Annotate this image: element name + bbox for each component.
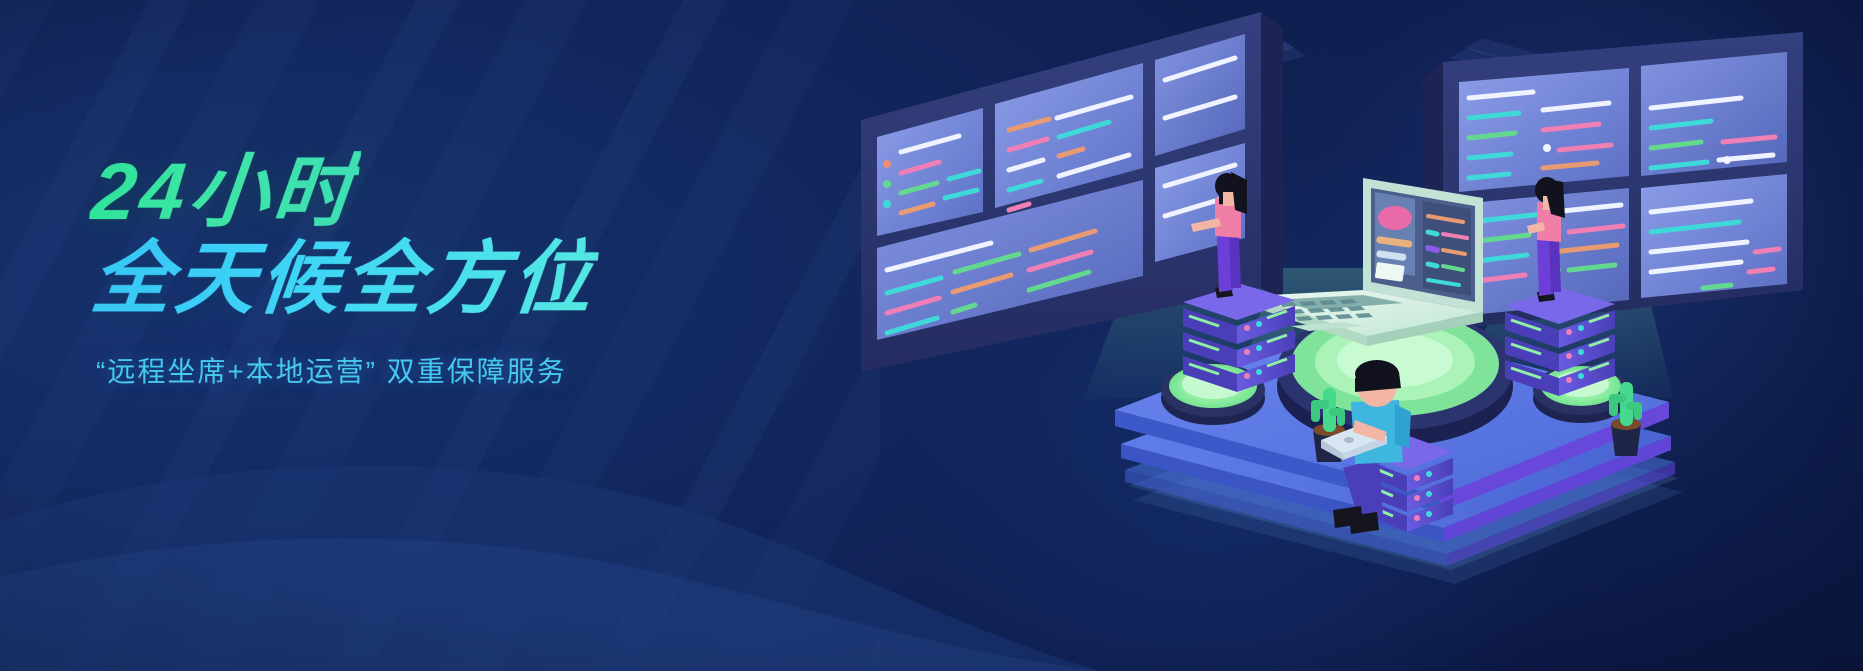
subtitle-text: “远程坐席+本地运营” 双重保障服务 <box>96 350 812 390</box>
server-rack-left <box>1183 284 1295 392</box>
headline-copy-block: 24小时 全天候全方位 “远程坐席+本地运营” 双重保障服务 <box>92 150 812 390</box>
headline-line-2: 全天候全方位 <box>88 237 601 320</box>
illustration-svg <box>843 0 1863 671</box>
isometric-illustration <box>843 0 1863 671</box>
headline-line-2-wrap: 全天候全方位 <box>92 233 812 320</box>
promo-banner: 24小时 全天候全方位 “远程坐席+本地运营” 双重保障服务 <box>0 0 1863 671</box>
server-rack-right <box>1505 288 1615 396</box>
headline-line-1: 24小时 <box>88 150 362 233</box>
headline-line-1-wrap: 24小时 <box>92 150 812 233</box>
